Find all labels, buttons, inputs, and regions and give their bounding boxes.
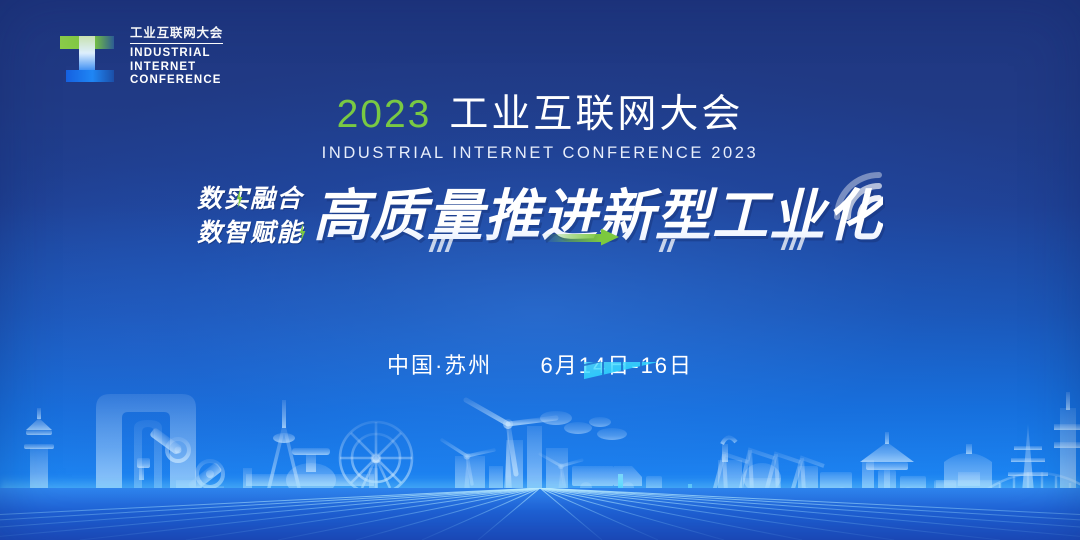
conference-logo[interactable]: 工业互联网大会 INDUSTRIAL INTERNET CONFERENCE: [56, 26, 223, 88]
event-title: 2023工业互联网大会: [0, 92, 1080, 138]
event-title-english: INDUSTRIAL INTERNET CONFERENCE 2023: [0, 144, 1080, 163]
slogan-secondary-line-1-text: 数实融合: [197, 185, 303, 213]
slogan-secondary-line-1: 数实融合: [197, 184, 303, 215]
logo-english-line-2: INTERNET: [130, 61, 223, 75]
slogan-block: 数实融合 数智赋能 高质量推进新型工业化: [0, 182, 1080, 249]
event-title-year: 2023: [337, 93, 432, 136]
logo-english-line-3: CONFERENCE: [130, 74, 223, 88]
event-title-chinese: 工业互联网大会: [449, 93, 743, 136]
logo-chinese-name: 工业互联网大会: [130, 26, 223, 44]
solar-panel-icon: [668, 362, 714, 492]
event-title-block: 2023工业互联网大会 INDUSTRIAL INTERNET CONFEREN…: [0, 92, 1080, 163]
solar-panel-icon: [584, 362, 660, 492]
slogan-headline: 高质量推进新型工业化: [313, 183, 883, 249]
perspective-grid: [0, 488, 1080, 540]
logo-wordmark: 工业互联网大会 INDUSTRIAL INTERNET CONFERENCE: [130, 26, 223, 88]
logo-english-line-1: INDUSTRIAL: [130, 47, 223, 61]
slogan-headline-wrap: 高质量推进新型工业化: [313, 183, 883, 249]
industrial-internet-conference-logo-icon: [56, 26, 118, 88]
conference-poster: 工业互联网大会 INDUSTRIAL INTERNET CONFERENCE 2…: [0, 0, 1080, 540]
slogan-secondary-line-2-text: 数智赋能: [197, 219, 303, 247]
perspective-ground: [0, 488, 1080, 540]
slogan-secondary: 数实融合 数智赋能: [197, 184, 303, 249]
industrial-city-skyline-right: [0, 362, 1080, 492]
slogan-secondary-line-2: 数智赋能: [197, 218, 303, 249]
tv-tower-icon: [273, 400, 295, 443]
